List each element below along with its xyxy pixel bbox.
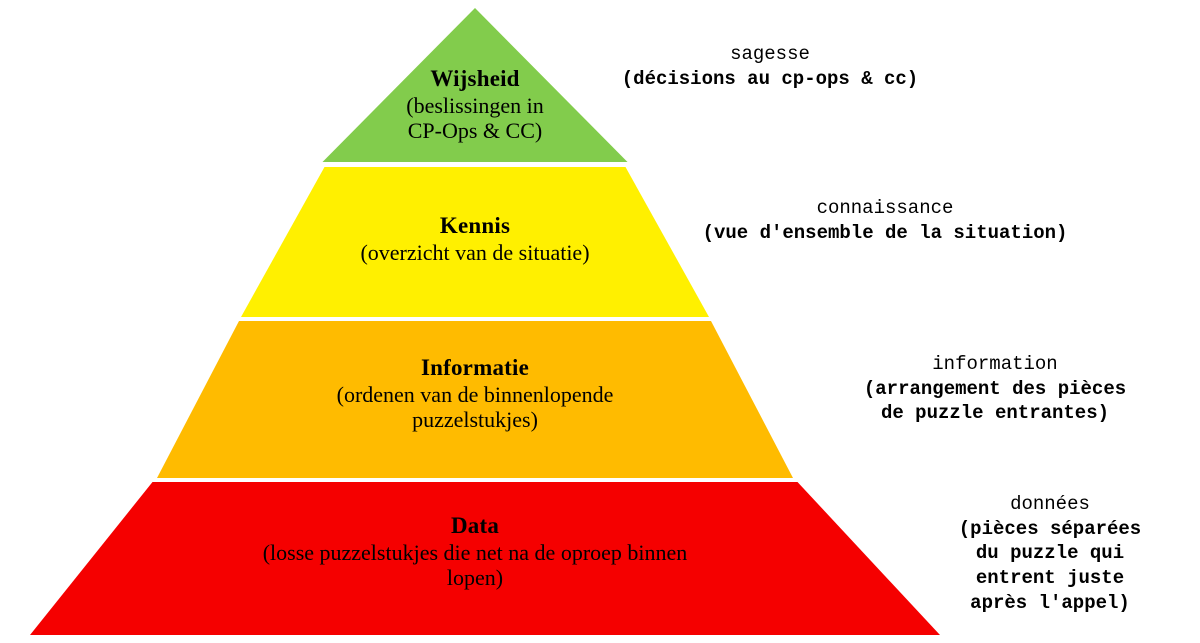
annotation-wisdom-fr-head: sagesse xyxy=(570,42,970,67)
band-title-knowledge: Kennis xyxy=(300,213,650,240)
annotation-information-fr-head: information xyxy=(810,352,1180,377)
annotation-wisdom-fr-line-1: (décisions au cp-ops & cc) xyxy=(570,67,970,92)
band-subtitle-information-line-1: (ordenen van de binnenlopende xyxy=(258,382,692,408)
diagram-canvas: Wijsheid (beslissingen in CP-Ops & CC) K… xyxy=(0,0,1200,643)
annotation-data-fr-line-2: du puzzle qui xyxy=(910,541,1190,566)
annotation-knowledge-fr-line-1: (vue d'ensemble de la situation) xyxy=(650,221,1120,246)
annotation-information-fr: information (arrangement des pièces de p… xyxy=(810,352,1180,426)
annotation-knowledge-fr: connaissance (vue d'ensemble de la situa… xyxy=(650,196,1120,245)
annotation-data-fr-line-1: (pièces séparées xyxy=(910,517,1190,542)
band-label-data: Data (losse puzzelstukjes die net na de … xyxy=(135,513,815,591)
annotation-information-fr-line-2: de puzzle entrantes) xyxy=(810,401,1180,426)
band-subtitle-wisdom-line-2: CP-Ops & CC) xyxy=(332,118,618,144)
band-subtitle-information-line-2: puzzelstukjes) xyxy=(258,407,692,433)
band-subtitle-data-line-1: (losse puzzelstukjes die net na de oproe… xyxy=(135,540,815,566)
annotation-data-fr: données (pièces séparées du puzzle qui e… xyxy=(910,492,1190,615)
annotation-wisdom-fr: sagesse (décisions au cp-ops & cc) xyxy=(570,42,970,91)
band-subtitle-wisdom-line-1: (beslissingen in xyxy=(332,93,618,119)
band-label-information: Informatie (ordenen van de binnenlopende… xyxy=(258,355,692,433)
annotation-data-fr-line-3: entrent juste xyxy=(910,566,1190,591)
band-title-information: Informatie xyxy=(258,355,692,382)
band-subtitle-data-line-2: lopen) xyxy=(135,565,815,591)
annotation-data-fr-head: données xyxy=(910,492,1190,517)
annotation-data-fr-line-4: après l'appel) xyxy=(910,591,1190,616)
annotation-information-fr-line-1: (arrangement des pièces xyxy=(810,377,1180,402)
band-label-knowledge: Kennis (overzicht van de situatie) xyxy=(300,213,650,265)
band-title-data: Data xyxy=(135,513,815,540)
band-subtitle-knowledge-line-1: (overzicht van de situatie) xyxy=(300,240,650,266)
annotation-knowledge-fr-head: connaissance xyxy=(650,196,1120,221)
